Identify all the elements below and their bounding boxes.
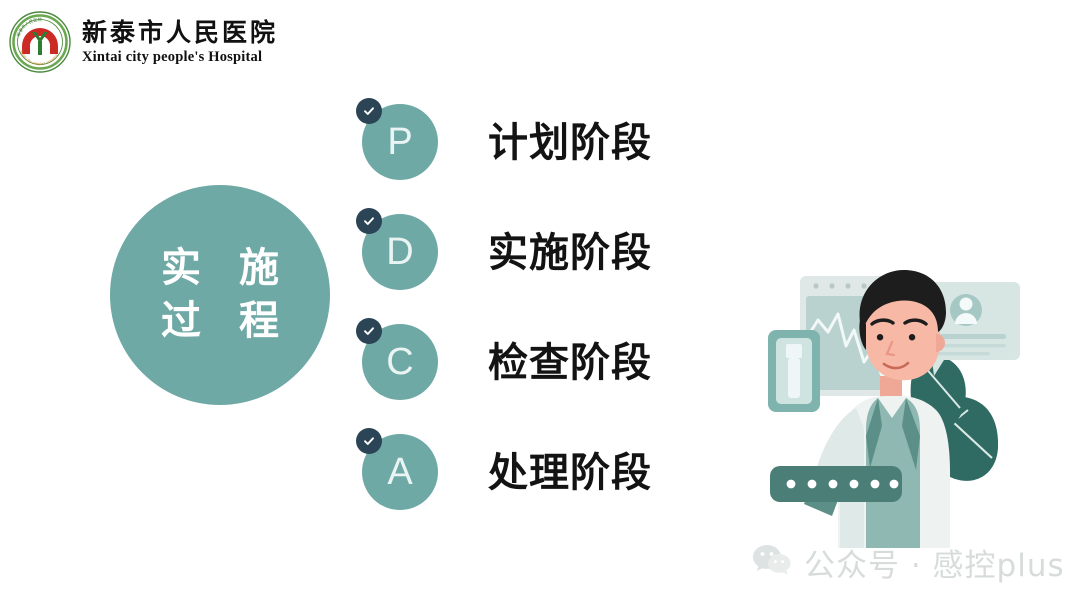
stage-badge-wrap-d: D: [356, 208, 438, 290]
pdca-stage-list: P 计划阶段 D 实施阶段 C 检查阶段: [356, 98, 652, 538]
watermark: 公众号 · 感控plus: [752, 540, 1065, 585]
hospital-name-block: 新泰市人民医院 Xintai city people's Hospital: [82, 20, 278, 65]
stage-label-c: 检查阶段: [488, 330, 652, 388]
check-circle-icon: [356, 208, 382, 234]
stage-row-d[interactable]: D 实施阶段: [356, 208, 652, 290]
process-circle: 实 施 过 程: [110, 185, 330, 405]
medicine-bottle-icon: [768, 330, 820, 412]
stage-badge-wrap-c: C: [356, 318, 438, 400]
hospital-name-en: Xintai city people's Hospital: [82, 50, 278, 65]
doctor-with-charts-illustration: [760, 258, 1030, 548]
wechat-icon: [752, 543, 792, 582]
check-circle-icon: [356, 428, 382, 454]
process-circle-line-1: 实 施: [149, 242, 291, 295]
hospital-emblem-icon: 新泰市人民医院 Xintai city people's Hospital: [8, 10, 72, 74]
stage-badge-wrap-p: P: [356, 98, 438, 180]
watermark-text: 公众号 · 感控plus: [804, 540, 1065, 585]
hospital-name-cn: 新泰市人民医院: [82, 20, 278, 45]
stage-row-c[interactable]: C 检查阶段: [356, 318, 652, 400]
stage-badge-wrap-a: A: [356, 428, 438, 510]
stage-label-d: 实施阶段: [488, 220, 652, 278]
dotted-bar: [770, 466, 902, 502]
stage-row-p[interactable]: P 计划阶段: [356, 98, 652, 180]
check-circle-icon: [356, 318, 382, 344]
stage-label-a: 处理阶段: [488, 440, 652, 498]
stage-row-a[interactable]: A 处理阶段: [356, 428, 652, 510]
process-circle-line-2: 过 程: [149, 295, 291, 348]
hospital-header: 新泰市人民医院 Xintai city people's Hospital 新泰…: [8, 10, 278, 74]
check-circle-icon: [356, 98, 382, 124]
stage-label-p: 计划阶段: [488, 110, 652, 168]
